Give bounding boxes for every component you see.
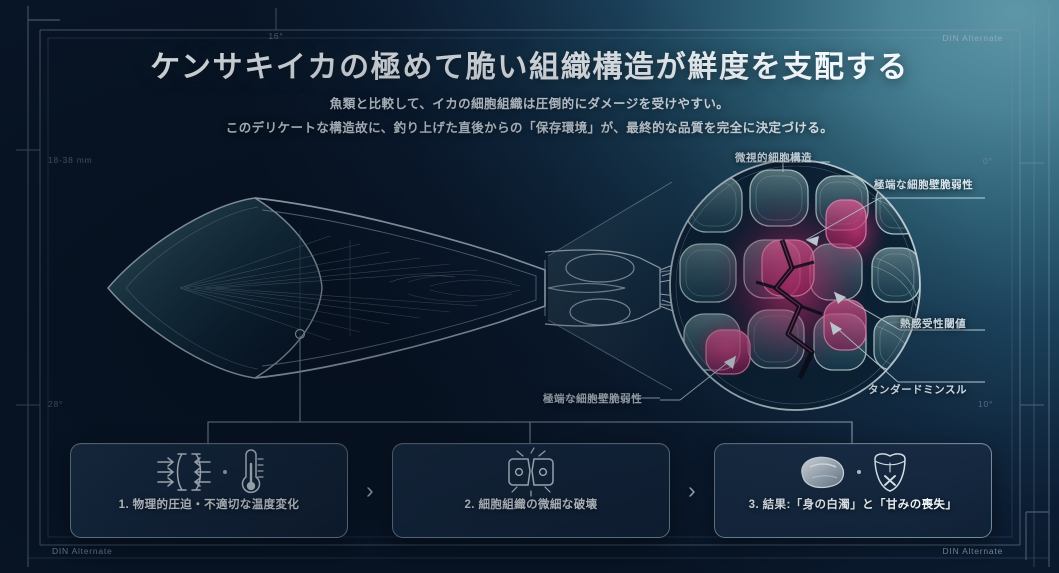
flow-step-1-caption: 1. 物理的圧迫・不適切な温度変化	[119, 500, 300, 512]
annotation-right-top: 極端な細胞壁脆弱性	[874, 177, 973, 192]
squid-fillet-icon	[794, 451, 850, 493]
process-flow: 1. 物理的圧迫・不適切な温度変化 › 2. 細胞組織の微細な破壊 ›	[0, 443, 1059, 543]
icon-separator-dot	[857, 470, 861, 474]
ruptured-cell-icon	[501, 447, 561, 497]
page-title: ケンサキイカの極めて脆い組織構造が鮮度を支配する	[0, 42, 1059, 86]
annotation-magnifier-title: 微視的細胞構造	[735, 150, 812, 165]
tongue-no-taste-icon	[868, 449, 912, 495]
thermometer-icon	[234, 448, 264, 496]
flow-step-1-icons	[154, 444, 264, 500]
flow-step-3-icons	[794, 444, 912, 500]
compression-arrows-icon	[154, 449, 216, 495]
flow-step-1[interactable]: 1. 物理的圧迫・不適切な温度変化	[70, 443, 348, 538]
flow-step-2[interactable]: 2. 細胞組織の微細な破壊	[392, 443, 670, 538]
flow-separator-1: ›	[366, 477, 374, 504]
flow-step-3[interactable]: 3. 結果:「身の白濁」と「甘みの喪失」	[714, 443, 992, 538]
flow-step-3-caption: 3. 結果:「身の白濁」と「甘みの喪失」	[749, 500, 958, 512]
annotation-right-bottom: タンダードミンスル	[868, 382, 967, 397]
infographic-canvas: 16° DIN Alternate 18-38 mm 28° 0° 10° DI…	[0, 0, 1059, 573]
annotation-right-mid: 熱感受性閾値	[900, 316, 966, 331]
flow-separator-2: ›	[688, 477, 696, 504]
flow-step-2-caption: 2. 細胞組織の微細な破壊	[464, 500, 597, 512]
subtitle-line-1: 魚類と比較して、イカの細胞組織は圧倒的にダメージを受けやすい。	[0, 93, 1059, 112]
annotation-left-bottom: 極端な細胞壁脆弱性	[543, 391, 642, 406]
subtitle-line-2: このデリケートな構造故に、釣り上げた直後からの「保存環境」が、最終的な品質を完全…	[0, 117, 1059, 136]
flow-step-2-icons	[501, 444, 561, 500]
icon-separator-dot	[223, 470, 227, 474]
